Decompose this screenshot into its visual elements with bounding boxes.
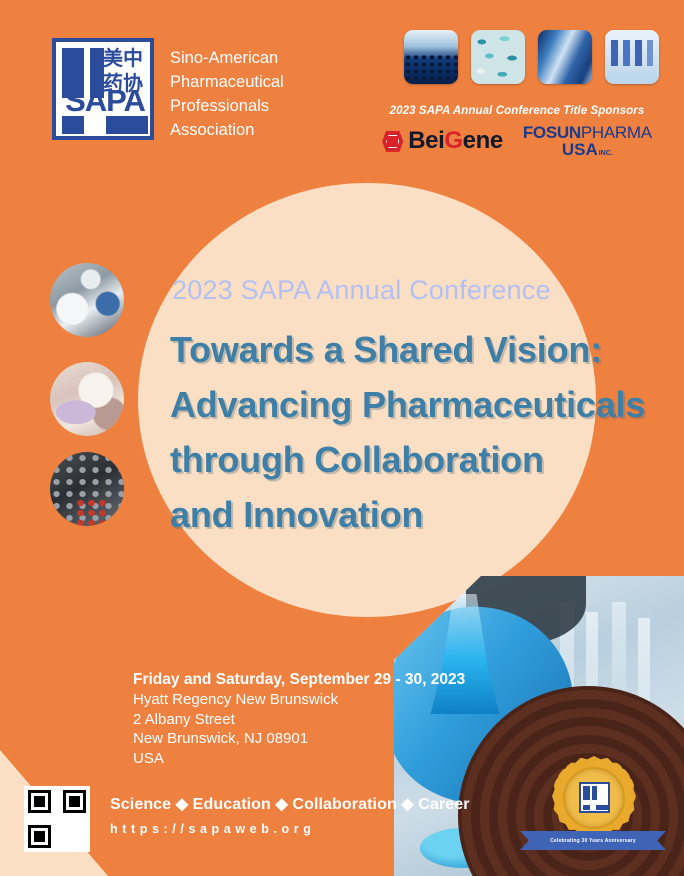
beigene-emblem-icon [382,131,403,152]
lab-technician-photo [50,263,124,337]
organization-name: Sino-American Pharmaceutical Professiona… [170,38,284,142]
conference-title: Towards a Shared Vision: Advancing Pharm… [170,322,670,542]
abstract-waves-thumbnail [538,30,592,84]
event-date: Friday and Saturday, September 29 - 30, … [133,670,465,690]
sponsor-heading: 2023 SAPA Annual Conference Title Sponso… [372,105,662,117]
conference-poster: 美中 药协 SAPA Sino-American Pharmaceutical … [0,0,684,876]
beigene-text-accent: G [444,127,462,154]
fosun-inc-suffix: INC. [599,150,613,157]
fosun-pharma-logo: FOSUNPHARMA USAINC. [523,124,652,159]
gloved-hands-photo [50,362,124,436]
beigene-wordmark: BeiGene [408,129,503,153]
fosun-usa-word: USA [562,140,598,159]
anniversary-ribbon: Celebrating 30 Years Anniversary [520,831,666,850]
well-plate-thumbnail [404,30,458,84]
capsules-thumbnail [471,30,525,84]
beigene-logo: BeiGene [382,129,503,153]
fosun-bold-word: FOSUN [523,123,581,142]
beigene-text-part2: ene [463,127,503,154]
sapa-logo-icon: 美中 药协 SAPA [52,38,154,140]
sponsor-section: 2023 SAPA Annual Conference Title Sponso… [372,105,662,159]
thumbnail-strip [404,30,659,84]
conference-eyebrow: 2023 SAPA Annual Conference [172,277,551,304]
fosun-light-word: PHARMA [581,123,652,142]
vials-thumbnail [605,30,659,84]
sapa-logo-block: 美中 药协 SAPA Sino-American Pharmaceutical … [52,38,284,142]
beigene-text-part1: Bei [408,127,444,154]
sponsor-logo-row: BeiGene FOSUNPHARMA USAINC. [372,124,662,159]
event-details: Friday and Saturday, September 29 - 30, … [133,650,465,768]
website-url[interactable]: https://sapaweb.org [110,822,315,836]
sapa-acronym: SAPA [60,85,150,116]
anniversary-seal [552,756,636,840]
event-address: Hyatt Regency New Brunswick 2 Albany Str… [133,691,338,767]
qr-code[interactable] [24,786,90,852]
blister-packs-photo [50,452,124,526]
values-tagline: Science ◆ Education ◆ Collaboration ◆ Ca… [110,794,470,814]
seal-sapa-logo-icon [579,782,610,813]
